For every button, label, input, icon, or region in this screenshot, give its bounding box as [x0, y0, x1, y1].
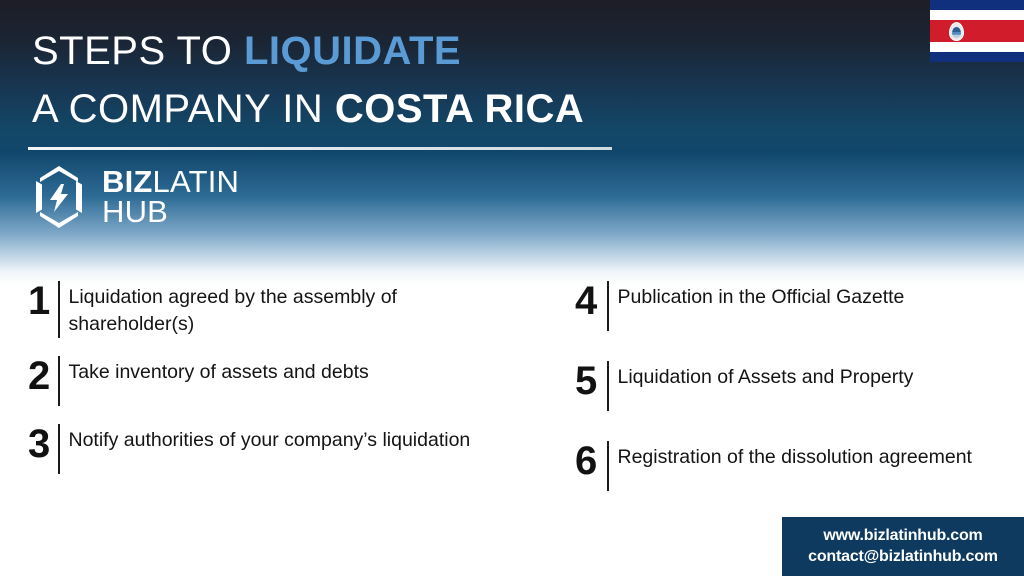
costa-rica-flag-icon	[930, 0, 1024, 62]
title-divider	[28, 147, 612, 150]
step-divider	[58, 424, 60, 474]
brand-logo: BIZLATIN HUB	[28, 164, 239, 230]
page-title: STEPS TO LIQUIDATE A COMPANY IN COSTA RI…	[32, 22, 732, 138]
bizlatinhub-mark-icon	[28, 164, 90, 230]
flag-coat-of-arms-icon	[949, 22, 964, 41]
step-number: 2	[28, 356, 58, 396]
list-item: 3 Notify authorities of your company’s l…	[28, 424, 498, 474]
step-label: Liquidation of Assets and Property	[618, 361, 914, 391]
list-item: 2 Take inventory of assets and debts	[28, 356, 498, 406]
brand-line-2: HUB	[102, 197, 239, 227]
contact-email[interactable]: contact@bizlatinhub.com	[808, 547, 998, 567]
title-line-2: A COMPANY IN COSTA RICA	[32, 80, 732, 138]
title-line-1-accent: LIQUIDATE	[244, 29, 461, 73]
contact-website[interactable]: www.bizlatinhub.com	[823, 526, 982, 546]
list-item: 5 Liquidation of Assets and Property	[575, 361, 1005, 411]
list-item: 4 Publication in the Official Gazette	[575, 281, 1005, 331]
step-divider	[607, 441, 609, 491]
step-label: Publication in the Official Gazette	[618, 281, 905, 311]
step-number: 5	[575, 361, 607, 401]
flag-band-blue-bottom	[930, 52, 1024, 62]
title-line-1-plain: STEPS TO	[32, 29, 244, 73]
flag-band-white-top	[930, 10, 1024, 20]
flag-band-red	[930, 20, 1024, 42]
flag-band-blue-top	[930, 0, 1024, 10]
step-number: 1	[28, 281, 58, 321]
step-number: 6	[575, 441, 607, 481]
contact-box: www.bizlatinhub.com contact@bizlatinhub.…	[782, 517, 1024, 576]
step-number: 4	[575, 281, 607, 321]
infographic-canvas: STEPS TO LIQUIDATE A COMPANY IN COSTA RI…	[0, 0, 1024, 576]
step-label: Take inventory of assets and debts	[69, 356, 369, 386]
step-label: Liquidation agreed by the assembly of sh…	[69, 281, 499, 338]
step-divider	[58, 356, 60, 406]
title-line-2-plain: A COMPANY IN	[32, 87, 335, 131]
list-item: 6 Registration of the dissolution agreem…	[575, 441, 1005, 491]
title-line-2-strong: COSTA RICA	[335, 87, 584, 131]
step-divider	[607, 361, 609, 411]
flag-coat-of-arms-inner	[952, 27, 961, 38]
steps-column-left: 1 Liquidation agreed by the assembly of …	[28, 281, 498, 492]
step-number: 3	[28, 424, 58, 464]
list-item: 1 Liquidation agreed by the assembly of …	[28, 281, 498, 338]
steps-container: 1 Liquidation agreed by the assembly of …	[0, 281, 1024, 511]
brand-line-1: BIZLATIN	[102, 167, 239, 197]
step-label: Registration of the dissolution agreemen…	[618, 441, 972, 471]
brand-wordmark: BIZLATIN HUB	[102, 167, 239, 228]
step-divider	[607, 281, 609, 331]
step-label: Notify authorities of your company’s liq…	[69, 424, 471, 454]
title-line-1: STEPS TO LIQUIDATE	[32, 22, 732, 80]
step-divider	[58, 281, 60, 338]
flag-band-white-bottom	[930, 42, 1024, 52]
steps-column-right: 4 Publication in the Official Gazette 5 …	[575, 281, 1005, 521]
